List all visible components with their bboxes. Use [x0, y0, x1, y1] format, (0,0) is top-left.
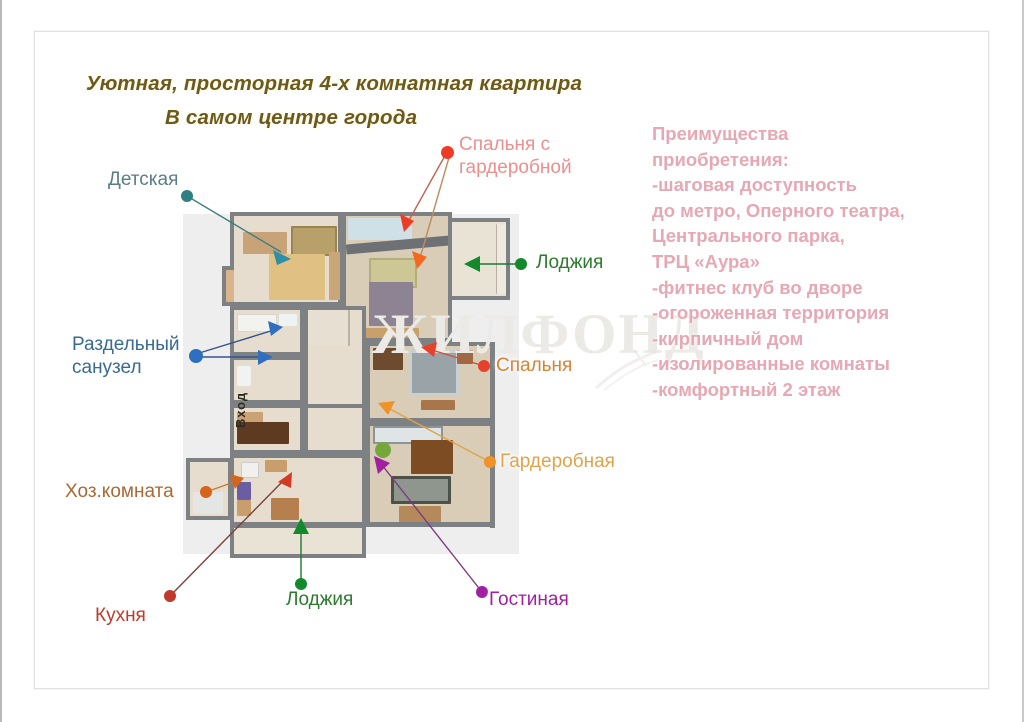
callout-label-detskaya: Детская — [108, 168, 178, 191]
marker-spalnya[interactable] — [478, 360, 490, 372]
marker-kuhnya[interactable] — [164, 590, 176, 602]
callout-label-lodzhiya-bottom: Лоджия — [286, 588, 353, 611]
marker-detskaya[interactable] — [181, 190, 193, 202]
marker-lodzhiya-top[interactable] — [515, 258, 527, 270]
callout-label-kuhnya: Кухня — [95, 604, 146, 627]
poster-stage: Уютная, просторная 4-х комнатная квартир… — [0, 0, 1024, 722]
callout-label-hoz-komnata: Хоз.комната — [65, 480, 174, 503]
callout-label-spalnya: Спальня — [496, 354, 572, 377]
marker-hoz-komnata[interactable] — [200, 486, 212, 498]
marker-sanuzel[interactable] — [189, 349, 203, 363]
callout-label-gostinaya: Гостиная — [489, 588, 569, 611]
marker-gostinaya[interactable] — [476, 586, 488, 598]
marker-spalnya-garderobnaya[interactable] — [441, 146, 454, 159]
advantages-text: Преимущества приобретения: -шаговая дост… — [652, 121, 972, 403]
callout-label-spalnya-garderobnaya: Спальня с гардеробной — [459, 133, 572, 179]
callout-label-sanuzel: Раздельный санузел — [72, 333, 179, 379]
callout-label-garderobnaya: Гардеробная — [500, 450, 615, 473]
callout-label-lodzhiya-top: Лоджия — [536, 251, 603, 274]
marker-garderobnaya[interactable] — [484, 456, 496, 468]
